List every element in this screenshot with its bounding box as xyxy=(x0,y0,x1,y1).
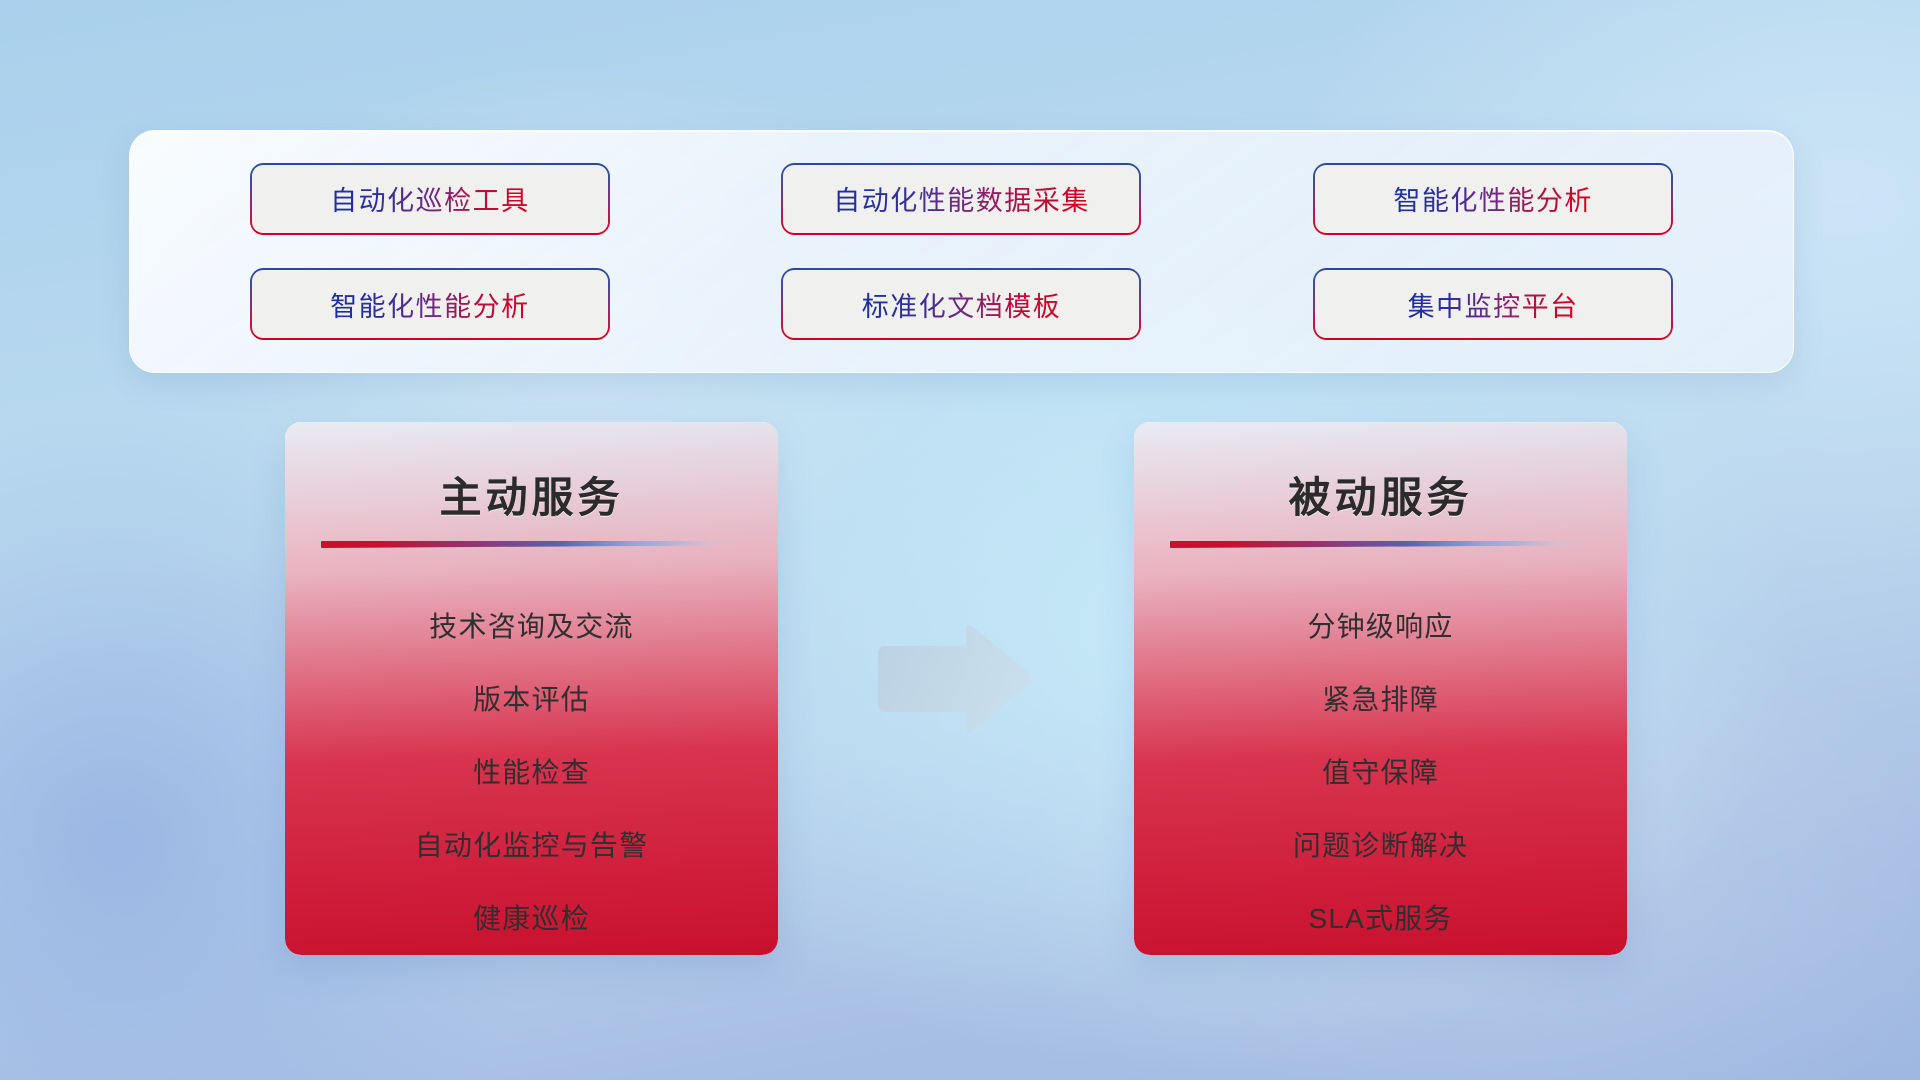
capability-pill-label: 自动化巡检工具 xyxy=(330,179,530,218)
capability-pill-6[interactable]: 集中监控平台 xyxy=(1315,270,1671,338)
capability-pill-label: 标准化文档模板 xyxy=(862,285,1062,324)
card-list-item: 分钟级响应 xyxy=(1307,590,1453,663)
service-card-reactive[interactable]: 被动服务 分钟级响应 紧急排障 值守保障 问题诊断解决 SLA式服务 xyxy=(1134,422,1627,955)
arrow-right-icon xyxy=(874,620,1034,740)
capability-pill-surface: 智能化性能分析 xyxy=(1315,165,1671,233)
capability-pill-label: 智能化性能分析 xyxy=(330,285,530,324)
capability-pill-2[interactable]: 自动化性能数据采集 xyxy=(783,165,1139,233)
card-list-item: SLA式服务 xyxy=(1308,882,1452,955)
card-title: 主动服务 xyxy=(285,464,778,525)
card-list-item: 技术咨询及交流 xyxy=(429,590,633,663)
card-list-item: 性能检查 xyxy=(473,736,590,809)
capability-pill-1[interactable]: 自动化巡检工具 xyxy=(252,165,608,233)
card-divider xyxy=(321,541,742,548)
capability-pill-4[interactable]: 智能化性能分析 xyxy=(252,270,608,338)
card-list-item: 版本评估 xyxy=(473,663,590,736)
capability-pill-3[interactable]: 智能化性能分析 xyxy=(1315,165,1671,233)
capability-pill-label: 智能化性能分析 xyxy=(1393,179,1593,218)
card-title: 被动服务 xyxy=(1134,464,1627,525)
capability-pill-grid: 自动化巡检工具 自动化性能数据采集 智能化性能分析 智能化性能分析 xyxy=(130,131,1793,372)
card-list-item: 健康巡检 xyxy=(473,882,590,955)
capability-panel: 自动化巡检工具 自动化性能数据采集 智能化性能分析 智能化性能分析 xyxy=(129,130,1794,373)
card-list-item: 问题诊断解决 xyxy=(1293,809,1468,882)
capability-pill-5[interactable]: 标准化文档模板 xyxy=(783,270,1139,338)
capability-pill-label: 集中监控平台 xyxy=(1408,285,1579,324)
capability-pill-surface: 集中监控平台 xyxy=(1315,270,1671,338)
service-card-proactive[interactable]: 主动服务 技术咨询及交流 版本评估 性能检查 自动化监控与告警 健康巡检 xyxy=(285,422,778,955)
card-list-item: 紧急排障 xyxy=(1322,663,1439,736)
card-item-list: 技术咨询及交流 版本评估 性能检查 自动化监控与告警 健康巡检 xyxy=(285,590,778,937)
capability-pill-surface: 标准化文档模板 xyxy=(783,270,1139,338)
card-item-list: 分钟级响应 紧急排障 值守保障 问题诊断解决 SLA式服务 xyxy=(1134,590,1627,937)
card-divider xyxy=(1170,541,1591,548)
capability-pill-label: 自动化性能数据采集 xyxy=(833,179,1090,218)
card-list-item: 自动化监控与告警 xyxy=(415,809,649,882)
capability-pill-surface: 智能化性能分析 xyxy=(252,270,608,338)
card-list-item: 值守保障 xyxy=(1322,736,1439,809)
capability-pill-surface: 自动化性能数据采集 xyxy=(783,165,1139,233)
capability-pill-surface: 自动化巡检工具 xyxy=(252,165,608,233)
